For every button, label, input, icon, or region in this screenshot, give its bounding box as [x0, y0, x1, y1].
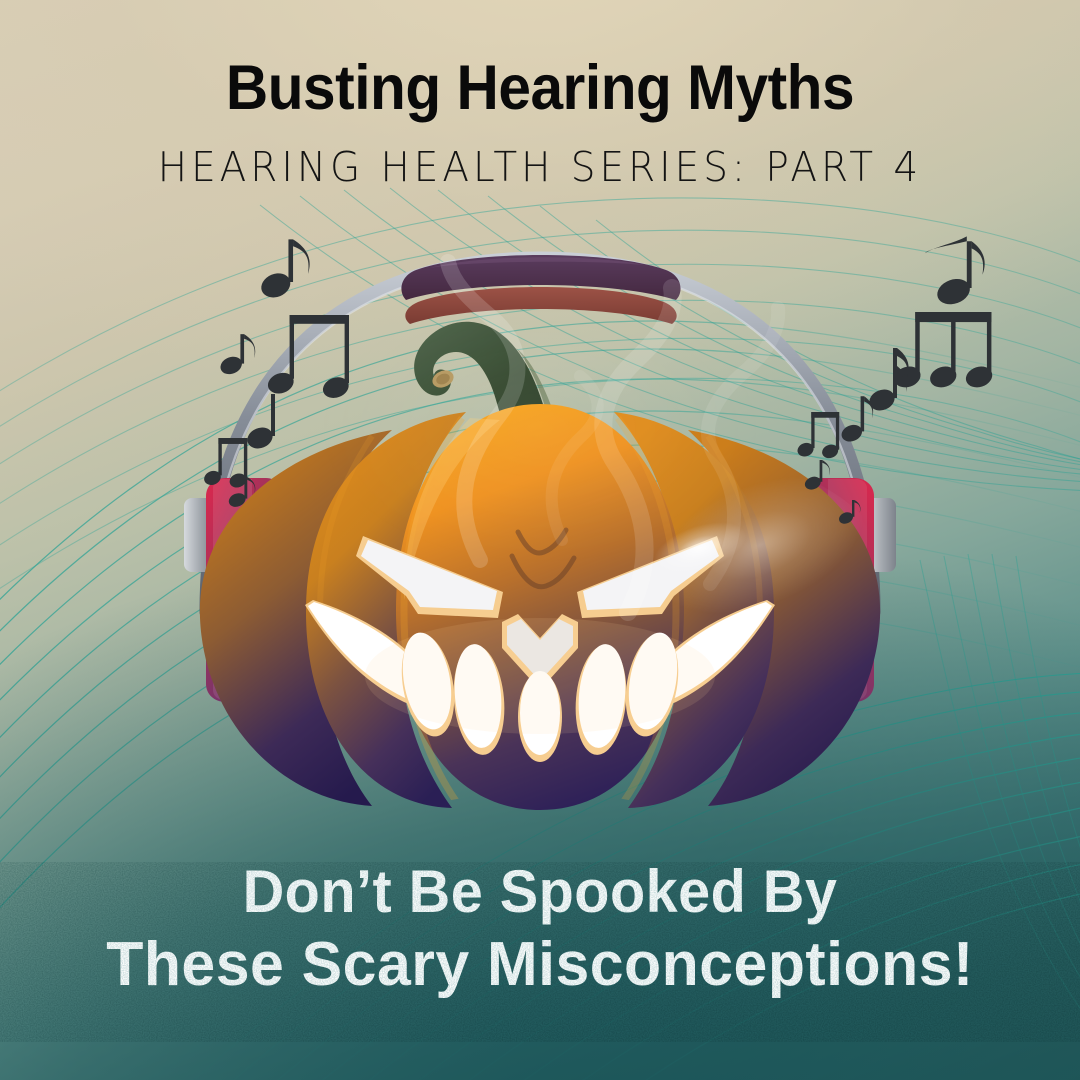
music-note	[258, 239, 310, 301]
page-subtitle: HEARING HEALTH SERIES: PART 4	[27, 143, 1053, 191]
tagline-line-1: Don’t Be Spooked By	[22, 862, 1059, 922]
music-note	[839, 396, 873, 444]
music-note	[925, 236, 985, 308]
tagline: Don’t Be Spooked By These Scary Misconce…	[0, 862, 1080, 996]
music-note	[892, 312, 995, 391]
page-title: Busting Hearing Myths	[38, 52, 1042, 124]
poster-canvas: Busting Hearing Myths HEARING HEALTH SER…	[0, 0, 1080, 1080]
music-note	[218, 334, 255, 377]
tagline-line-2: These Scary Misconceptions!	[11, 934, 1069, 996]
